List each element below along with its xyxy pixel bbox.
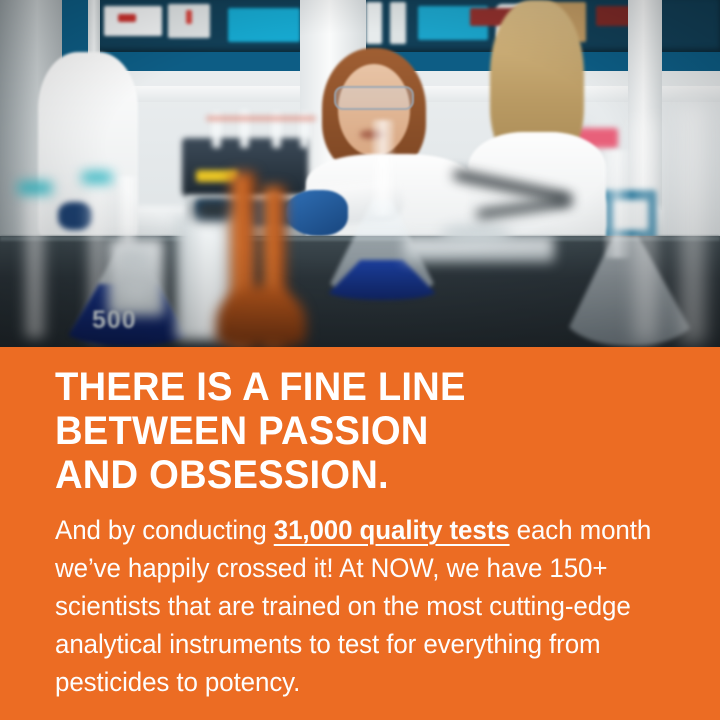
reagent-bottle-cap: [196, 200, 230, 220]
shelf-bin-cyan: [228, 8, 300, 42]
safety-goggles: [334, 86, 414, 110]
body-paragraph: And by conducting 31,000 quality tests e…: [55, 511, 655, 701]
lab-photo: 500: [0, 0, 720, 347]
graduated-cylinder-right-2: [632, 118, 660, 344]
outlet-socket-2: [122, 280, 148, 302]
erlenmeyer-flask-center: [322, 120, 442, 300]
balance-pan: [440, 224, 512, 242]
shelf-bottle-b: [390, 2, 406, 44]
graduated-cylinder-left: [22, 188, 48, 338]
body-text-before: And by conducting: [55, 515, 274, 545]
graduated-cylinder-right: [676, 104, 710, 344]
page-title: THERE IS A FINE LINE BETWEEN PASSION AND…: [55, 365, 666, 497]
shelf-box-red: [118, 14, 136, 22]
headline-line-1: THERE IS A FINE LINE: [55, 365, 666, 409]
cylinder-cap-left: [18, 182, 52, 194]
headline-line-2: BETWEEN PASSION: [55, 409, 666, 453]
orange-text-panel: THERE IS A FINE LINE BETWEEN PASSION AND…: [0, 347, 720, 720]
outlet-socket-1: [122, 250, 148, 272]
promo-card: 500 T: [0, 0, 720, 720]
quality-tests-highlight: 31,000 quality tests: [274, 515, 510, 545]
shelf-bottle-a: [366, 2, 382, 44]
headline-line-3: AND OBSESSION.: [55, 453, 666, 497]
cabinet-shelf-right: [655, 0, 720, 52]
shelf-marker-red: [186, 10, 192, 24]
